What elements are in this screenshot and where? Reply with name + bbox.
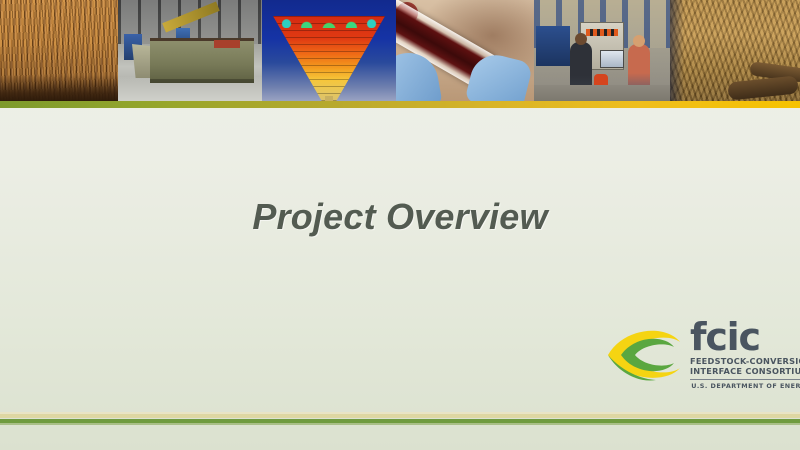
blue-control-panel bbox=[536, 26, 570, 66]
fcic-logo-text: fcic FEEDSTOCK-CONVERSION INTERFACE CONS… bbox=[690, 320, 800, 390]
photo-pilot-plant-operators bbox=[534, 0, 670, 101]
machine-red-accent bbox=[214, 40, 240, 48]
field-soil-shadow bbox=[0, 75, 118, 101]
photo-hopper-flow-simulation bbox=[262, 0, 396, 101]
operator-laptop-screen bbox=[600, 50, 624, 68]
fcic-logo: fcic FEEDSTOCK-CONVERSION INTERFACE CONS… bbox=[604, 320, 790, 406]
simulation-free-surface bbox=[273, 14, 385, 28]
photo-bio-oil-sample-test-tube bbox=[396, 0, 534, 101]
indicator-lights bbox=[586, 29, 618, 36]
logo-divider bbox=[690, 379, 800, 380]
page-title: Project Overview bbox=[252, 196, 547, 238]
photo-preprocessing-equipment bbox=[118, 0, 262, 101]
photo-strip-accent-rule bbox=[0, 101, 800, 108]
fcic-leaf-mark-icon bbox=[604, 322, 686, 386]
pile-edge-shadow bbox=[670, 0, 684, 101]
footer-rule-gold bbox=[0, 414, 800, 418]
fcic-name-line-2: INTERFACE CONSORTIUM bbox=[690, 367, 800, 377]
plant-floor bbox=[534, 85, 670, 101]
photo-forest-residue-pile bbox=[670, 0, 800, 101]
slide: Project Overview fcic FEEDSTOCK-CONVERSI… bbox=[0, 0, 800, 450]
photo-strip bbox=[0, 0, 800, 101]
fcic-acronym: fcic bbox=[690, 322, 800, 354]
footer-rule-green-soft bbox=[0, 423, 800, 425]
title-block: Project Overview bbox=[0, 196, 800, 238]
photo-corn-stover-field bbox=[0, 0, 118, 101]
doe-agency-label: U.S. DEPARTMENT OF ENERGY bbox=[690, 382, 800, 390]
